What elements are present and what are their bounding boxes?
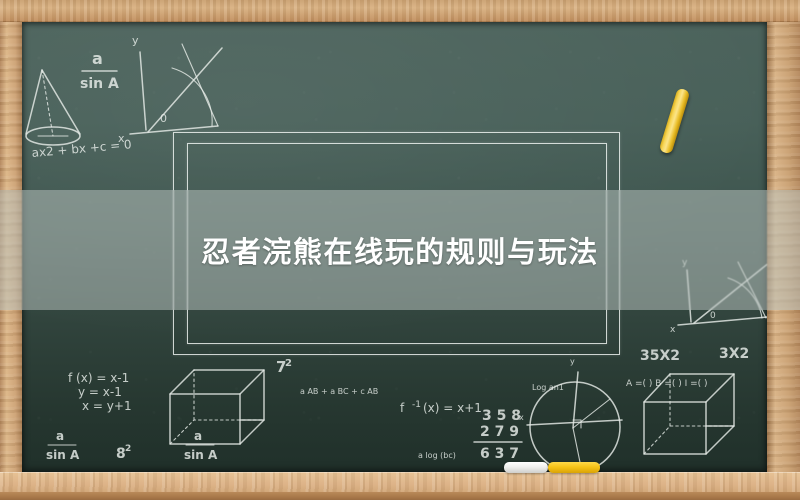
svg-text:y = x-1: y = x-1: [78, 385, 122, 399]
svg-text:f (x) = x-1: f (x) = x-1: [68, 371, 129, 385]
svg-text:2 7 9: 2 7 9: [480, 424, 519, 440]
svg-text:-1: -1: [412, 400, 421, 410]
svg-text:x = y+1: x = y+1: [82, 399, 132, 413]
multiply-35x2-text: 35X2: [640, 348, 680, 364]
fraction-a-over-sinA-bottomcenter: a sin A: [184, 429, 218, 462]
svg-text:x: x: [670, 325, 676, 335]
svg-text:(x) = x+1: (x) = x+1: [423, 401, 482, 415]
svg-text:a: a: [92, 49, 103, 68]
cube-wireframe-center: [170, 370, 264, 444]
yellow-chalk-stick: [548, 462, 600, 473]
chalk-tray-lip: [0, 492, 800, 500]
chalkboard-banner: a sin A y x 0 ax2 + bx +c = 0: [0, 0, 800, 500]
svg-text:a: a: [194, 429, 202, 443]
svg-text:x: x: [519, 413, 524, 422]
svg-text:2: 2: [125, 444, 131, 454]
log-label-2: a log (bc): [418, 451, 456, 460]
svg-text:6 3 7: 6 3 7: [480, 446, 519, 462]
svg-text:f: f: [400, 401, 405, 415]
cube-wireframe-right: [644, 374, 734, 454]
svg-text:0: 0: [710, 311, 716, 321]
multiply-3x2-text: 3X2: [719, 346, 749, 362]
svg-text:x: x: [118, 132, 125, 145]
column-addition-sum: 3 5 8 2 7 9 6 3 7: [474, 408, 522, 462]
inverse-function-equation: f -1 (x) = x+1: [400, 400, 482, 415]
svg-text:0: 0: [160, 112, 167, 125]
wood-frame-top: [0, 0, 800, 22]
svg-text:y: y: [570, 357, 575, 366]
function-equations-bottom: f (x) = x-1 y = x-1 x = y+1: [68, 371, 132, 413]
power-eight-squared: 8 2: [116, 444, 131, 462]
page-title: 忍者浣熊在线玩的规则与玩法: [0, 190, 800, 310]
cone-drawing: [26, 70, 80, 145]
log-label-1: Log an1: [532, 383, 564, 392]
svg-text:a: a: [56, 429, 64, 443]
svg-text:7: 7: [276, 358, 286, 376]
fraction-a-over-sinA-bottomleft: a sin A: [46, 429, 80, 462]
svg-text:2: 2: [285, 358, 292, 369]
angle-axis-diagram-topleft: y x 0: [118, 34, 222, 145]
svg-text:sin A: sin A: [80, 76, 119, 92]
svg-text:8: 8: [116, 446, 126, 462]
power-seven-squared: 7 2: [276, 358, 292, 376]
svg-text:y: y: [132, 34, 139, 47]
circle-radius-diagram-right: y x: [519, 357, 622, 472]
faint-equation-center: a AB + a BC + c AB: [300, 387, 378, 396]
fraction-a-over-sinA-topleft: a sin A: [80, 49, 119, 92]
quadratic-equation-text: ax2 + bx +c = 0: [31, 137, 132, 160]
matrix-notation-row: A =( ) B =( ) I =( ): [626, 379, 708, 389]
white-chalk-stick: [504, 462, 548, 473]
svg-text:sin A: sin A: [184, 448, 218, 462]
svg-text:3 5 8: 3 5 8: [482, 408, 521, 424]
svg-text:sin A: sin A: [46, 448, 80, 462]
